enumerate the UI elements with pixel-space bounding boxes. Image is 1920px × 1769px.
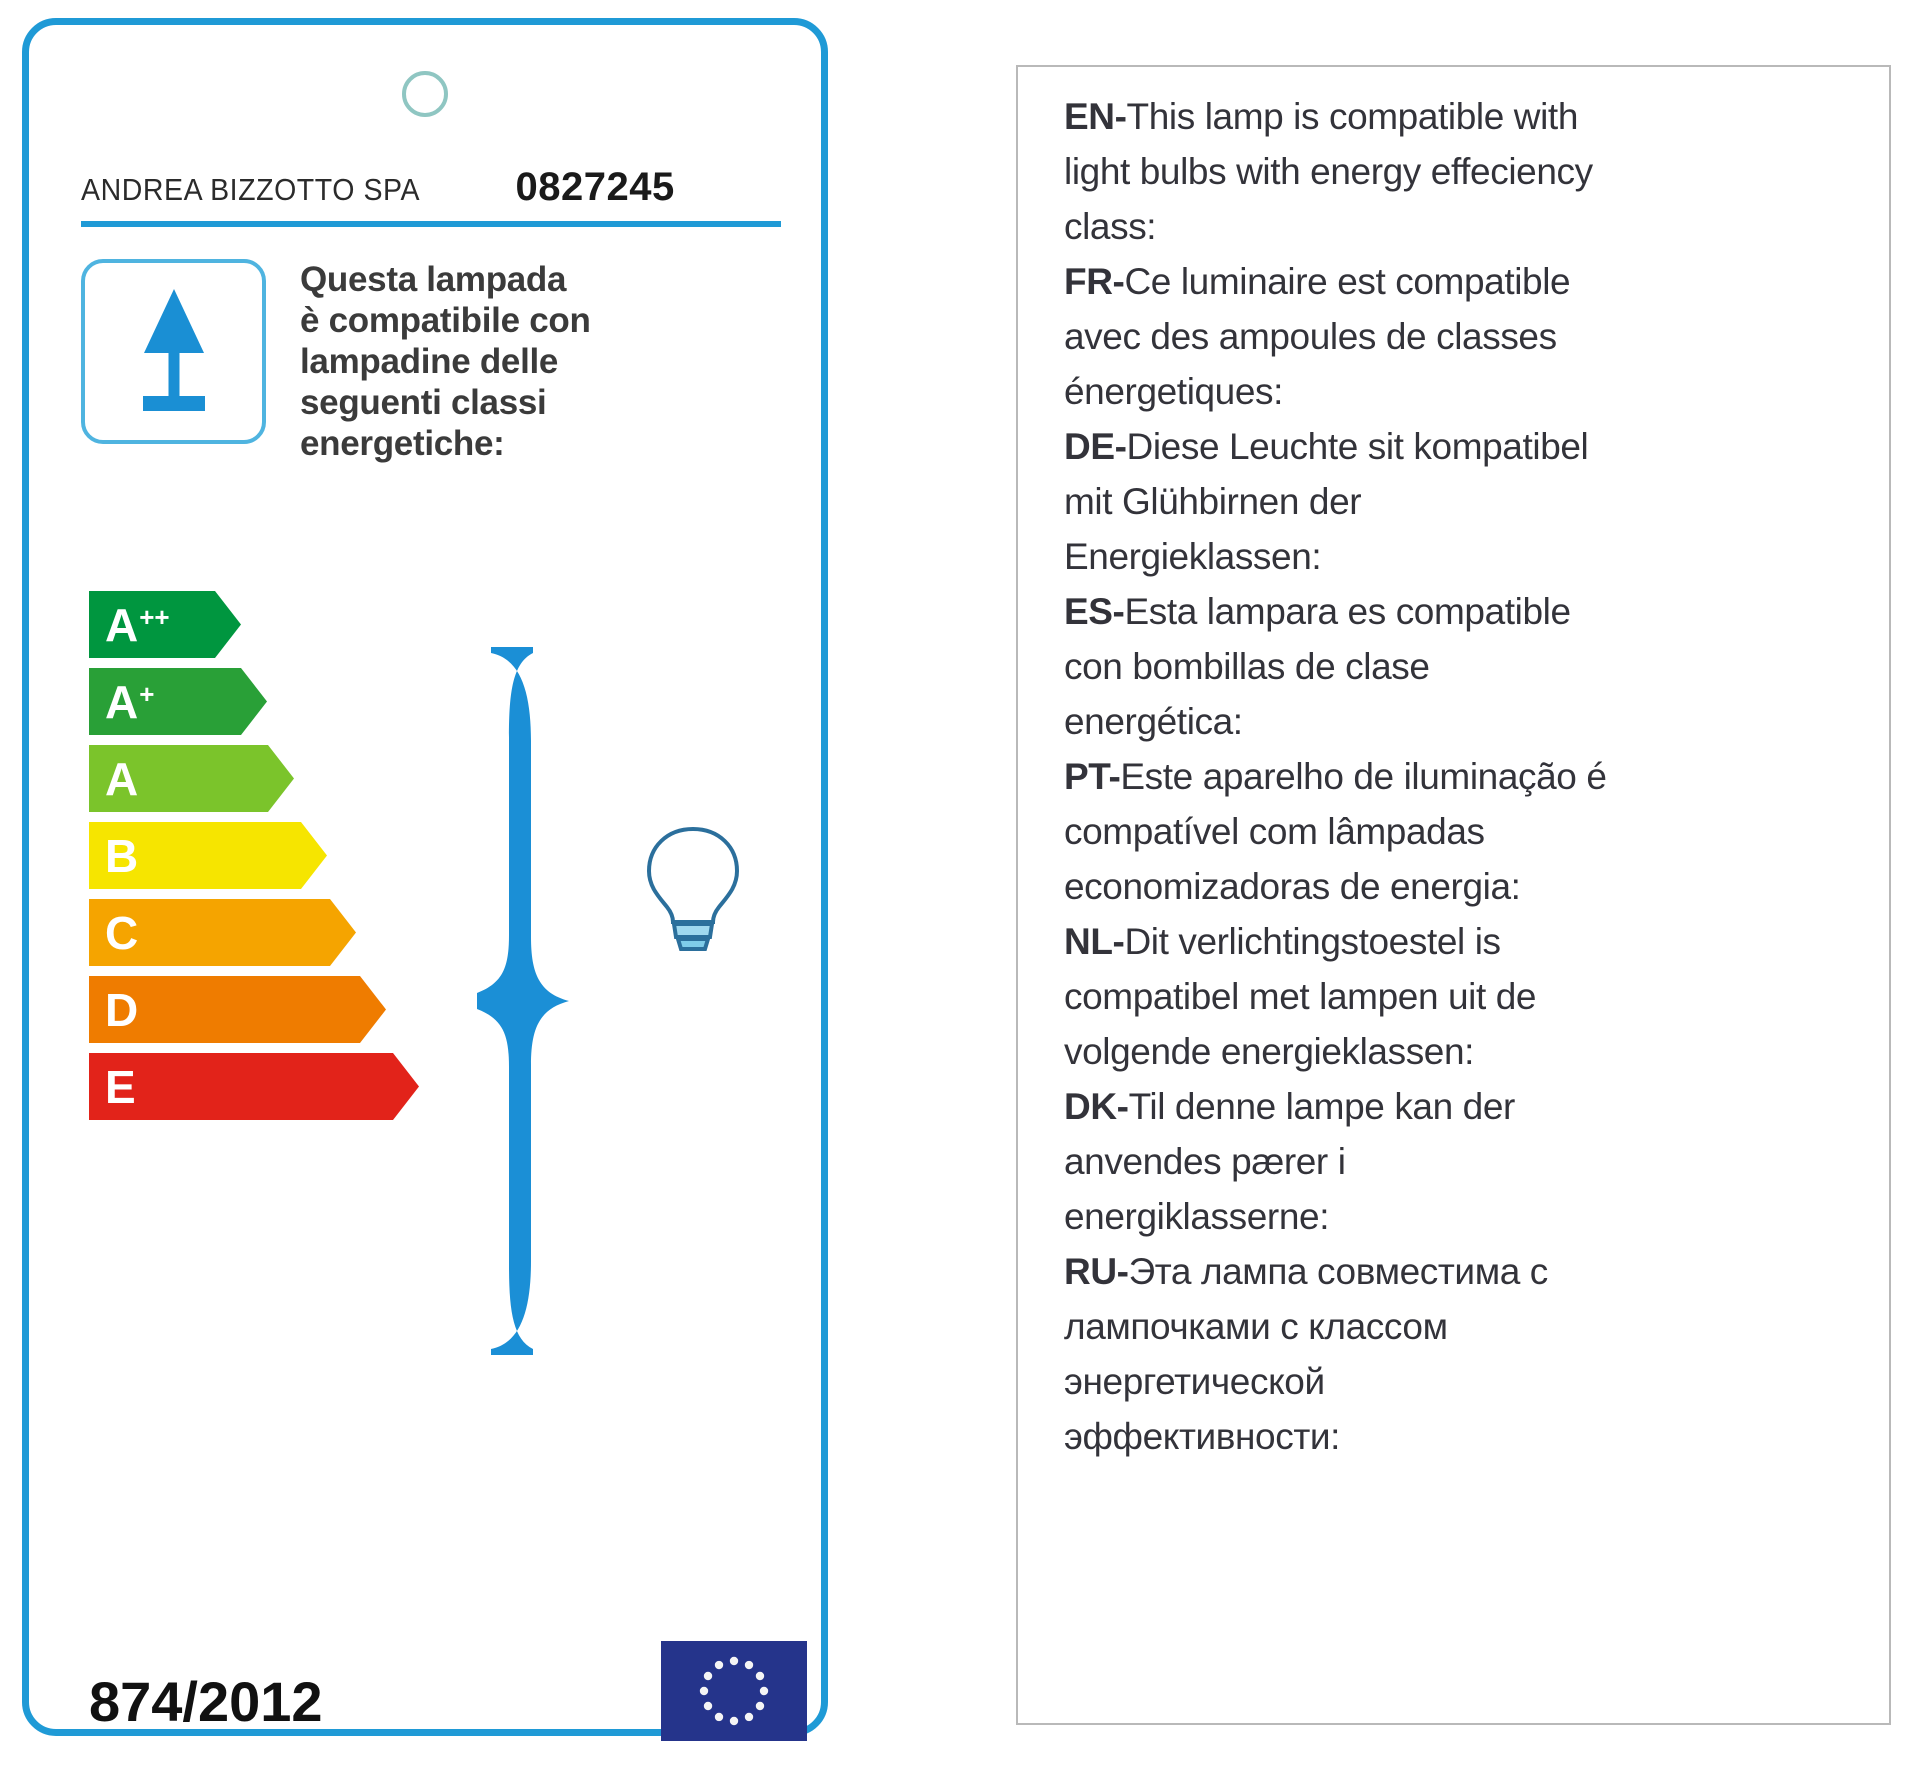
info-line-ru-0: RU-Эта лампа совместима с [1064, 1244, 1864, 1299]
energy-class-label: C [105, 910, 138, 956]
info-line-nl-0: NL-Dit verlichtingstoestel is [1064, 914, 1864, 969]
info-line-ru-3: эффективности: [1064, 1409, 1864, 1464]
energy-class-row: A [89, 745, 419, 812]
multilingual-info-panel: EN-This lamp is compatible withlight bul… [1016, 65, 1891, 1725]
it-line-1: è compatibile con [300, 300, 591, 341]
eu-star [704, 1702, 712, 1710]
compatibility-block: Questa lampada è compatibile con lampadi… [81, 259, 787, 464]
eu-star [730, 1657, 738, 1665]
product-code: 0827245 [516, 165, 675, 210]
energy-class-scale: A++A+ABCDE [89, 591, 419, 1130]
energy-class-row: A+ [89, 668, 419, 735]
it-line-2: lampadine delle [300, 341, 591, 382]
info-line-dk-0: DK-Til denne lampe kan der [1064, 1079, 1864, 1134]
eu-flag-stars [661, 1641, 807, 1741]
language-code-de: DE- [1064, 426, 1127, 467]
energy-class-label: A [105, 756, 138, 802]
eu-star [730, 1717, 738, 1725]
info-line-es-1: con bombillas de clase [1064, 639, 1864, 694]
energy-class-row: B [89, 822, 419, 889]
info-line-fr-0: FR-Ce luminaire est compatible [1064, 254, 1864, 309]
language-code-en: EN- [1064, 96, 1127, 137]
info-line-ru-1: лампочками с классом [1064, 1299, 1864, 1354]
language-code-es: ES- [1064, 591, 1124, 632]
eu-star [745, 1713, 753, 1721]
info-line-de-1: mit Glühbirnen der [1064, 474, 1864, 529]
eu-star [700, 1687, 708, 1695]
info-line-fr-2: énergetiques: [1064, 364, 1864, 419]
hang-hole-icon [402, 71, 448, 117]
info-line-pt-0: PT-Este aparelho de iluminação é [1064, 749, 1864, 804]
info-line-ru-2: энергетической [1064, 1354, 1864, 1409]
eu-star [715, 1713, 723, 1721]
energy-class-row: C [89, 899, 419, 966]
info-line-en-2: class: [1064, 199, 1864, 254]
language-code-ru: RU- [1064, 1251, 1129, 1292]
hang-tag-card: ANDREA BIZZOTTO SPA 0827245 Questa lampa… [22, 18, 828, 1736]
energy-class-label: D [105, 987, 138, 1033]
it-line-4: energetiche: [300, 423, 591, 464]
energy-class-label: B [105, 833, 138, 879]
brace-and-bulb-group [469, 637, 809, 1377]
info-line-en-0: EN-This lamp is compatible with [1064, 89, 1864, 144]
energy-class-label: A+ [105, 679, 153, 725]
energy-class-row: D [89, 976, 419, 1043]
info-line-de-2: Energieklassen: [1064, 529, 1864, 584]
energy-class-superscript: ++ [139, 604, 169, 630]
info-line-fr-1: avec des ampoules de classes [1064, 309, 1864, 364]
eu-star [745, 1661, 753, 1669]
info-line-de-0: DE-Diese Leuchte sit kompatibel [1064, 419, 1864, 474]
energy-class-arrow [89, 1053, 419, 1120]
eu-star [704, 1672, 712, 1680]
language-code-fr: FR- [1064, 261, 1124, 302]
light-bulb-icon [649, 829, 737, 949]
language-code-dk: DK- [1064, 1086, 1129, 1127]
info-line-es-0: ES-Esta lampara es compatible [1064, 584, 1864, 639]
brace-bulb-svg [469, 637, 809, 1377]
language-code-pt: PT- [1064, 756, 1120, 797]
eu-star [756, 1672, 764, 1680]
eu-star [760, 1687, 768, 1695]
info-line-es-2: energética: [1064, 694, 1864, 749]
energy-class-label: A++ [105, 602, 169, 648]
compatibility-text-it: Questa lampada è compatibile con lampadi… [300, 259, 591, 464]
energy-class-label: E [105, 1064, 136, 1110]
info-line-dk-1: anvendes pærer i [1064, 1134, 1864, 1189]
it-line-3: seguenti classi [300, 382, 591, 423]
multilingual-text: EN-This lamp is compatible withlight bul… [1064, 89, 1864, 1464]
brand-row: ANDREA BIZZOTTO SPA 0827245 [81, 165, 781, 210]
info-line-en-1: light bulbs with energy effeciency [1064, 144, 1864, 199]
energy-class-row: E [89, 1053, 419, 1120]
info-line-pt-2: economizadoras de energia: [1064, 859, 1864, 914]
eu-star [715, 1661, 723, 1669]
info-line-dk-2: energiklasserne: [1064, 1189, 1864, 1244]
info-line-pt-1: compatível com lâmpadas [1064, 804, 1864, 859]
table-lamp-icon [81, 259, 266, 444]
energy-class-row: A++ [89, 591, 419, 658]
it-line-0: Questa lampada [300, 259, 591, 300]
info-line-nl-1: compatibel met lampen uit de [1064, 969, 1864, 1024]
regulation-number: 874/2012 [89, 1669, 323, 1734]
lamp-shade-shape [144, 289, 204, 353]
info-line-nl-2: volgende energieklassen: [1064, 1024, 1864, 1079]
curly-brace-icon [477, 647, 569, 1355]
energy-class-superscript: + [139, 681, 154, 707]
brand-name: ANDREA BIZZOTTO SPA [81, 172, 420, 208]
lamp-base-shape [143, 396, 205, 411]
energy-label-sheet: ANDREA BIZZOTTO SPA 0827245 Questa lampa… [0, 0, 1920, 1769]
language-code-nl: NL- [1064, 921, 1124, 962]
eu-star [756, 1702, 764, 1710]
eu-flag-icon [661, 1641, 807, 1741]
header-divider [81, 221, 781, 227]
